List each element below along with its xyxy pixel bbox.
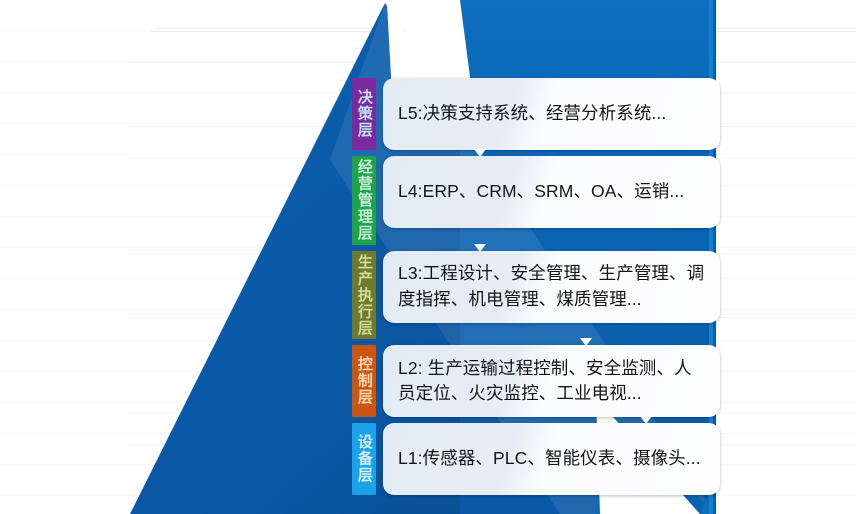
background-rule bbox=[155, 28, 856, 29]
layer-card-l1[interactable]: L1:传感器、PLC、智能仪表、摄像头... bbox=[383, 423, 720, 495]
layer-row-l5[interactable]: 决策层 L5:决策支持系统、经营分析系统... bbox=[352, 78, 720, 150]
layer-tag-label: 决策层 bbox=[356, 89, 372, 139]
layer-card-text: L2: 生产运输过程控制、安全监测、人员定位、火灾监控、工业电视... bbox=[398, 356, 708, 407]
background-rule bbox=[150, 31, 856, 32]
down-chevron-icon bbox=[580, 338, 592, 346]
layer-card-l4[interactable]: L4:ERP、CRM、SRM、OA、运销... bbox=[383, 156, 720, 228]
layer-stack: 决策层 L5:决策支持系统、经营分析系统... 经营管理层 L4:ERP、CRM… bbox=[352, 78, 720, 495]
layer-tag-label: 经营管理层 bbox=[356, 159, 372, 242]
layer-card-l3[interactable]: L3:工程设计、安全管理、生产管理、调度指挥、机电管理、煤质管理... bbox=[383, 251, 720, 323]
layer-card-l2[interactable]: L2: 生产运输过程控制、安全监测、人员定位、火灾监控、工业电视... bbox=[383, 345, 720, 417]
layer-card-l5[interactable]: L5:决策支持系统、经营分析系统... bbox=[383, 78, 720, 150]
down-chevron-icon bbox=[474, 149, 486, 157]
layer-card-text: L4:ERP、CRM、SRM、OA、运销... bbox=[398, 179, 684, 204]
down-chevron-icon bbox=[474, 244, 486, 252]
layer-card-text: L3:工程设计、安全管理、生产管理、调度指挥、机电管理、煤质管理... bbox=[398, 261, 708, 312]
layer-row-l1[interactable]: 设备层 L1:传感器、PLC、智能仪表、摄像头... bbox=[352, 423, 720, 495]
down-chevron-icon bbox=[640, 416, 652, 424]
layer-card-text: L5:决策支持系统、经营分析系统... bbox=[398, 101, 666, 126]
layer-row-l4[interactable]: 经营管理层 L4:ERP、CRM、SRM、OA、运销... bbox=[352, 156, 720, 245]
layer-row-l2[interactable]: 控制层 L2: 生产运输过程控制、安全监测、人员定位、火灾监控、工业电视... bbox=[352, 345, 720, 417]
diagram-canvas: 决策层 L5:决策支持系统、经营分析系统... 经营管理层 L4:ERP、CRM… bbox=[0, 0, 856, 514]
layer-row-l3[interactable]: 生产执行层 L3:工程设计、安全管理、生产管理、调度指挥、机电管理、煤质管理..… bbox=[352, 251, 720, 340]
layer-tag-l1: 设备层 bbox=[352, 423, 376, 495]
background-rule bbox=[128, 62, 856, 63]
layer-card-text: L1:传感器、PLC、智能仪表、摄像头... bbox=[398, 446, 701, 471]
layer-tag-l3: 生产执行层 bbox=[352, 251, 376, 340]
layer-tag-l4: 经营管理层 bbox=[352, 156, 376, 245]
layer-tag-l5: 决策层 bbox=[352, 78, 376, 150]
layer-tag-label: 生产执行层 bbox=[356, 254, 372, 337]
layer-tag-l2: 控制层 bbox=[352, 345, 376, 417]
layer-tag-label: 控制层 bbox=[356, 356, 372, 406]
layer-tag-label: 设备层 bbox=[356, 434, 372, 484]
